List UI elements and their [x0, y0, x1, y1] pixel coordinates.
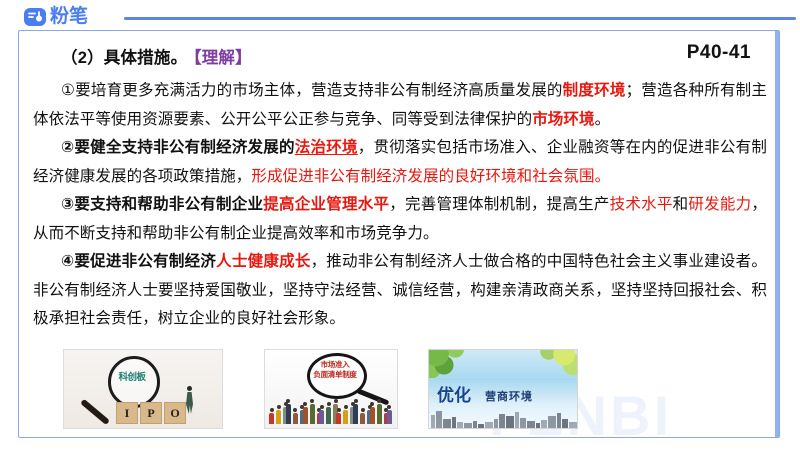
building-shape	[527, 421, 535, 428]
figurine-icon	[336, 413, 341, 424]
brand-logo: 粉笔	[24, 6, 88, 28]
brand-logo-text: 粉笔	[50, 6, 88, 28]
building-shape	[515, 412, 519, 428]
header-divider	[124, 17, 796, 20]
illustration-2-label-line1: 市场准入	[321, 360, 350, 369]
building-shape	[464, 423, 472, 428]
figurine-icon	[387, 410, 392, 424]
building-shape	[457, 422, 463, 428]
p4-run-2: 人士健康成长	[216, 253, 310, 270]
paragraph-1: ①要培育更多充满活力的市场主体，营造支持非公有制经济高质量发展的制度环境；营造各…	[33, 77, 767, 134]
figurine-icon	[286, 404, 291, 424]
p3-run-1: 提高企业管理水平	[263, 196, 389, 213]
foliage-right-icon	[525, 349, 578, 376]
section-heading-tag: 【理解】	[193, 49, 252, 67]
building-shape	[569, 422, 577, 428]
block-letter: I	[116, 402, 138, 424]
illustration-row: 科创板 I P O 市场准入 负面清单制度 优化 营商环境	[63, 349, 763, 433]
p1-run-1: 制度环境	[563, 82, 626, 99]
figurine-icon	[310, 404, 315, 424]
crowd-figurines	[265, 390, 398, 429]
magnifier-handle-icon	[80, 399, 110, 425]
p1-run-4: 。	[595, 111, 611, 128]
app-header: 粉笔	[0, 0, 800, 34]
building-shape	[494, 419, 498, 428]
building-shape	[443, 419, 451, 428]
building-shape	[520, 418, 526, 428]
p3-run-3: 技术水平	[610, 196, 673, 213]
paragraph-4: ④要促进非公有制经济人士健康成长，推动非公有制经济人士做合格的中国特色社会主义事…	[33, 248, 767, 334]
figurine-icon	[293, 413, 298, 424]
illustration-youhua-yingshang: 优化 营商环境	[428, 349, 578, 429]
illustration-shichang-zhunru: 市场准入 负面清单制度	[264, 349, 398, 429]
figurine-icon	[303, 407, 308, 424]
p3-run-5: 研发能力	[688, 196, 751, 213]
illustration-3-title: 优化	[437, 381, 471, 406]
figurine-icon	[353, 404, 358, 424]
building-shape	[506, 416, 514, 428]
slide-content: （2）具体措施。【理解】 ①要培育更多充满活力的市场主体，营造支持非公有制经济高…	[33, 45, 767, 334]
building-shape	[473, 421, 477, 428]
p2-run-1: 法治环境	[295, 139, 358, 156]
p1-run-0: ①要培育更多充满活力的市场主体，营造支持非公有制经济高质量发展的	[61, 82, 563, 99]
illustration-kechuangban-ipo: 科创板 I P O	[63, 349, 223, 429]
foliage-left-icon	[428, 349, 485, 378]
illustration-3-subtitle: 营商环境	[485, 388, 533, 404]
section-heading: （2）具体措施。【理解】	[33, 45, 767, 71]
p2-run-0: ②要健全支持非公有制经济发展的	[61, 139, 295, 156]
building-shape	[485, 422, 493, 428]
frame-accent-bar	[775, 31, 779, 437]
illustration-2-label-line2: 负面清单制度	[313, 370, 356, 379]
fenbi-logo-icon	[24, 6, 46, 28]
section-heading-number: （2）	[61, 49, 104, 67]
paragraph-3: ③要支持和帮助非公有制企业提高企业管理水平，完善管理体制机制，提高生产技术水平和…	[33, 191, 767, 248]
building-shape	[478, 424, 484, 428]
city-skyline-icon	[429, 408, 577, 428]
building-shape	[536, 423, 540, 428]
paragraph-2: ②要健全支持非公有制经济发展的法治环境，贯彻落实包括市场准入、企业融资等在内的促…	[33, 134, 767, 191]
building-shape	[557, 413, 561, 428]
p4-run-1: 促进非公有制经济	[90, 253, 216, 270]
figurine-icon	[319, 410, 324, 424]
illustration-1-blocks: I P O	[116, 402, 186, 424]
slide-frame: FENBI P40-41 （2）具体措施。【理解】 ①要培育更多充满活力的市场主…	[18, 30, 780, 438]
figurine-icon	[343, 410, 348, 424]
block-letter: O	[164, 402, 186, 424]
building-shape	[541, 420, 547, 428]
p1-run-3: 市场环境	[532, 111, 594, 128]
p4-run-0: ④要	[61, 253, 90, 270]
building-shape	[499, 414, 505, 428]
p3-run-4: 和	[673, 196, 689, 213]
p3-run-2: ，完善管理体制机制，提高生产	[389, 196, 609, 213]
building-shape	[436, 411, 442, 428]
figurine-icon	[370, 407, 375, 424]
section-heading-title: 具体措施。	[104, 49, 188, 67]
building-shape	[548, 416, 556, 428]
building-shape	[562, 419, 568, 428]
block-letter: P	[140, 402, 162, 424]
illustration-2-magnifier-label: 市场准入 负面清单制度	[311, 360, 359, 380]
figurine-icon	[377, 404, 382, 424]
building-shape	[452, 417, 456, 428]
p3-run-0: ③要支持和帮助非公有制企业	[61, 196, 263, 213]
figurine-icon	[360, 413, 365, 424]
building-shape	[431, 415, 435, 428]
figurine-icon	[326, 407, 331, 424]
figurine-icon	[276, 410, 281, 424]
figurine-icon	[269, 413, 274, 424]
p2-run-3: 形成促进非公有制经济发展的良好环境和社会氛围。	[251, 168, 610, 185]
illustration-1-magnifier-label: 科创板	[112, 369, 152, 383]
figurine-icon	[186, 386, 193, 416]
